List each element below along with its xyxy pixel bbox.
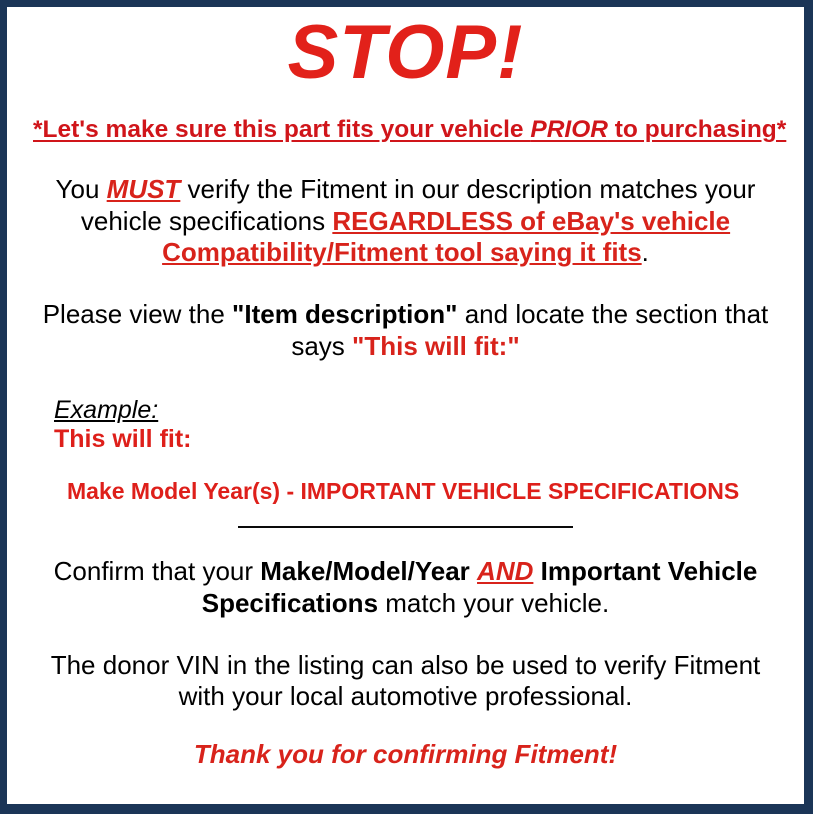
item-seg-1: Please view the (43, 299, 232, 329)
subheadline: *Let's make sure this part fits your veh… (33, 117, 778, 144)
example-spec-line: Make Model Year(s) - IMPORTANT VEHICLE S… (54, 479, 778, 504)
closing-thank-you: Thank you for confirming Fitment! (33, 739, 778, 770)
notice-content: STOP! *Let's make sure this part fits yo… (7, 15, 804, 812)
subheadline-text-after: to purchasing* (608, 116, 786, 143)
must-seg-5: . (642, 237, 649, 267)
make-model-year-bold: Make/Model/Year (260, 556, 470, 586)
confirm-seg-1: Confirm that your (54, 556, 261, 586)
confirm-seg-5 (533, 556, 540, 586)
example-block: Example: This will fit: Make Model Year(… (33, 397, 778, 505)
example-fit-line: This will fit: (54, 425, 778, 453)
page-title: STOP! (33, 15, 778, 91)
item-description-bold: "Item description" (232, 299, 457, 329)
subheadline-emphasis-prior: PRIOR (530, 116, 608, 143)
divider-wrapper (33, 526, 778, 528)
horizontal-divider (238, 526, 573, 528)
must-emphasis: MUST (107, 174, 181, 204)
and-emphasis: AND (477, 556, 533, 586)
paragraph-must-verify: You MUST verify the Fitment in our descr… (33, 174, 778, 269)
confirm-seg-7: match your vehicle. (378, 588, 609, 618)
must-seg-1: You (56, 174, 107, 204)
paragraph-item-description: Please view the "Item description" and l… (33, 299, 778, 362)
confirm-seg-3 (470, 556, 477, 586)
paragraph-confirm: Confirm that your Make/Model/Year AND Im… (33, 556, 778, 619)
fitment-notice-card: STOP! *Let's make sure this part fits yo… (0, 0, 813, 814)
paragraph-donor-vin: The donor VIN in the listing can also be… (33, 650, 778, 713)
example-label: Example: (54, 397, 158, 423)
subheadline-text-before: *Let's make sure this part fits your veh… (33, 116, 530, 143)
this-will-fit-quote: "This will fit:" (352, 331, 520, 361)
